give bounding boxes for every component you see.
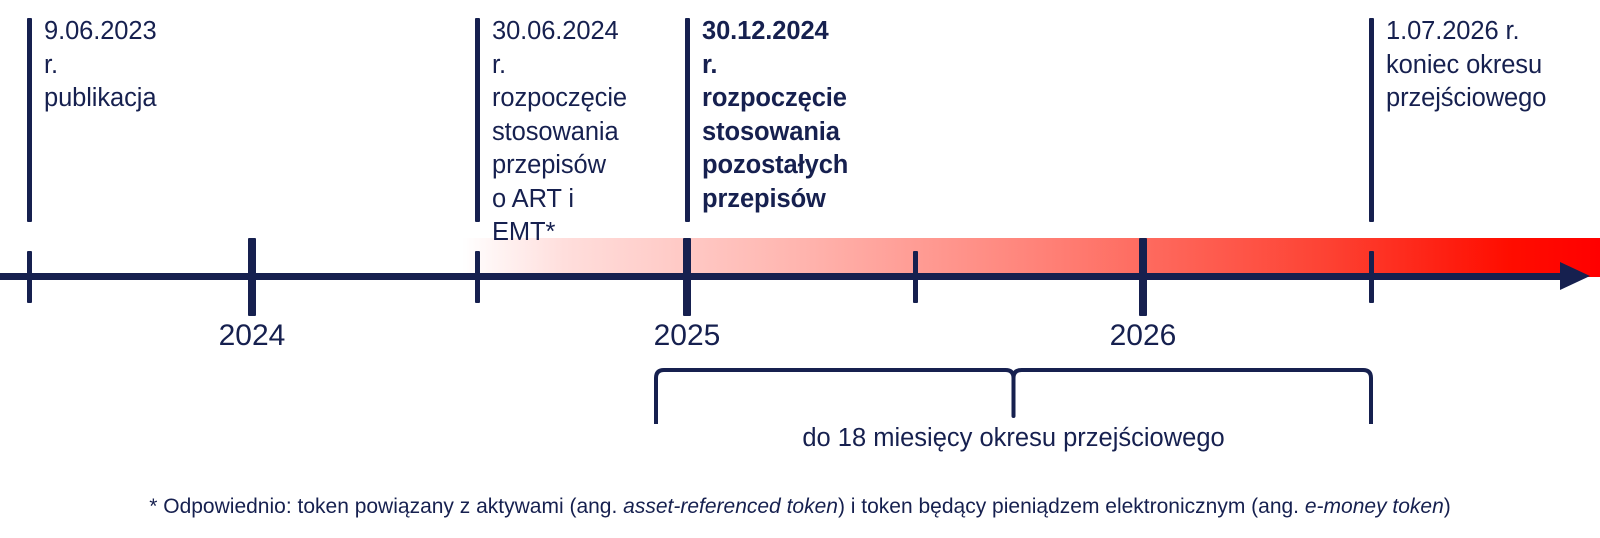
footnote-part1: Odpowiednio: token powiązany z aktywami … — [157, 495, 623, 518]
event-stem — [1369, 18, 1374, 222]
footnote-part2: ) i token będący pieniądzem elektroniczn… — [838, 495, 1305, 518]
axis-tick-half — [1369, 251, 1374, 303]
brace-caption: do 18 miesięcy okresu przejściowego — [599, 422, 1429, 454]
event-stem — [685, 18, 690, 222]
axis-tick-half — [27, 251, 32, 303]
transition-gradient-band — [462, 238, 1600, 277]
brace-icon — [650, 362, 1377, 424]
axis-tick-year — [1139, 238, 1147, 316]
axis-tick-half — [913, 251, 918, 303]
axis-arrow-icon — [1560, 262, 1590, 290]
axis-year-label-2024: 2024 — [172, 318, 332, 354]
footnote-italic-e-money-token: e-money token — [1305, 495, 1444, 518]
axis-year-label-2025: 2025 — [607, 318, 767, 354]
event-label: 9.06.2023 r. publikacja — [44, 15, 157, 116]
axis-tick-year — [683, 238, 691, 316]
footnote-part3: ) — [1444, 495, 1451, 518]
event-stem — [475, 18, 480, 222]
event-label: 1.07.2026 r. koniec okresu przejściowego — [1386, 15, 1546, 116]
axis-year-label-2026: 2026 — [1063, 318, 1223, 354]
axis-tick-half — [475, 251, 480, 303]
timeline-axis — [0, 273, 1566, 280]
transition-period-brace — [650, 362, 1377, 424]
footnote-italic-asset-referenced-token: asset-referenced token — [623, 495, 838, 518]
axis-tick-year — [248, 238, 256, 316]
timeline-diagram: 202420252026 9.06.2023 r. publikacja 30.… — [0, 0, 1600, 538]
footnote: * Odpowiednio: token powiązany z aktywam… — [0, 493, 1600, 521]
event-label: 30.06.2024 r. rozpoczęcie stosowania prz… — [492, 15, 627, 250]
event-label: 30.12.2024 r. rozpoczęcie stosowania poz… — [702, 15, 848, 216]
event-stem — [27, 18, 32, 222]
